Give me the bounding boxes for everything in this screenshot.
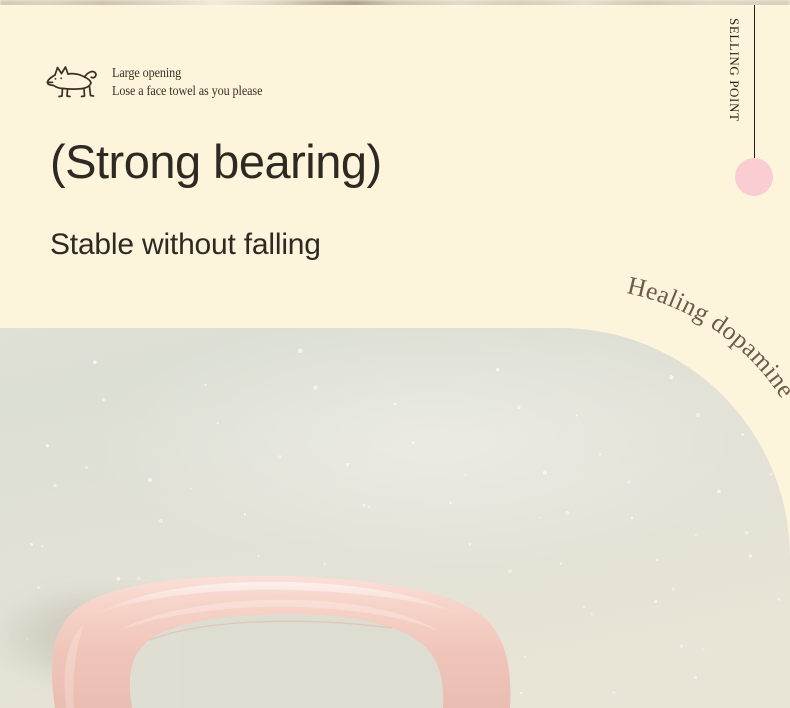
product-photo	[0, 328, 790, 708]
brand-tagline-row: Large opening Lose a face towel as you p…	[44, 62, 279, 102]
selling-point-label: SELLING POINT	[724, 18, 744, 130]
water-droplet-texture-a	[0, 328, 790, 708]
water-droplet-texture-c	[0, 435, 740, 708]
rail-divider-line	[754, 5, 755, 158]
subheadline: Stable without falling	[50, 230, 321, 260]
dog-icon	[44, 62, 100, 102]
selling-point-banner: Large opening Lose a face towel as you p…	[0, 0, 790, 708]
tagline-line-1: Large opening	[112, 64, 262, 82]
headline: (Strong bearing)	[50, 138, 382, 185]
water-droplet-texture-b	[6, 364, 790, 708]
brand-tagline: Large opening Lose a face towel as you p…	[112, 64, 279, 100]
pink-dot-marker	[735, 158, 773, 196]
handle-cast-shadow	[0, 590, 190, 708]
pink-handle-product	[0, 520, 560, 708]
tagline-line-2: Lose a face towel as you please	[112, 82, 262, 100]
